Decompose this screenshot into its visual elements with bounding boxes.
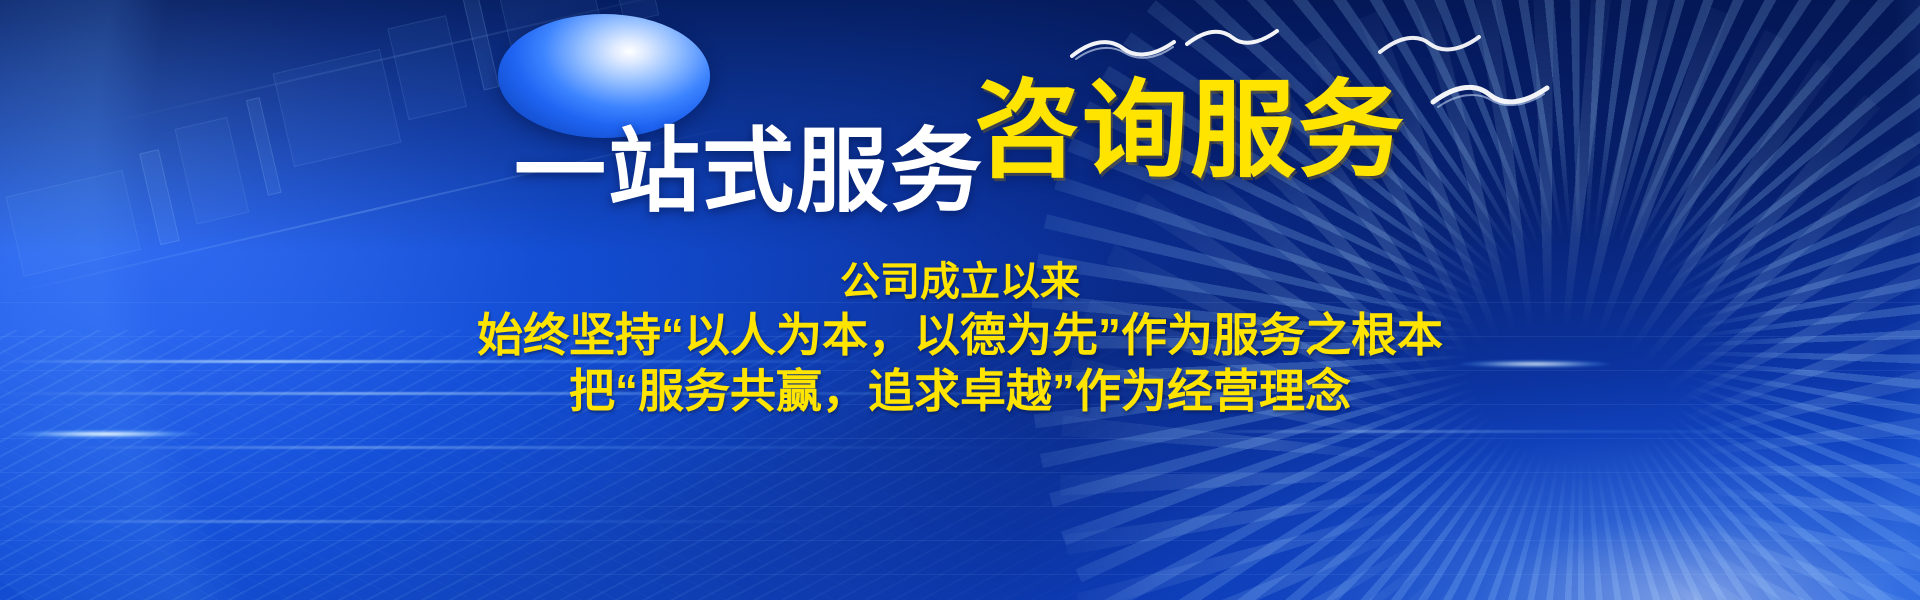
seagull-icon <box>1378 28 1482 62</box>
subtitle-line-1: 公司成立以来 <box>0 258 1920 307</box>
subtitle-line-3: 把“服务共赢，追求卓越”作为经营理念 <box>0 363 1920 419</box>
promo-banner: 一站式服务咨询服务 公司成立以来 始终坚持“以人为本，以德为先”作为服务之根本 … <box>0 0 1920 600</box>
subtitle-block: 公司成立以来 始终坚持“以人为本，以德为先”作为服务之根本 把“服务共赢，追求卓… <box>0 258 1920 419</box>
headline-accent-text: 咨询服务 <box>974 72 1406 190</box>
lens-flare <box>10 430 200 438</box>
subtitle-line-2: 始终坚持“以人为本，以德为先”作为服务之根本 <box>0 307 1920 363</box>
plate <box>463 0 500 91</box>
headline-inner: 一站式服务咨询服务 <box>514 78 1406 184</box>
light-streak <box>0 520 860 523</box>
seagull-icon <box>1185 24 1281 56</box>
headline-primary-text: 一站式服务 <box>514 121 984 223</box>
headline: 一站式服务咨询服务 <box>0 78 1920 184</box>
light-streak <box>60 446 1040 449</box>
seagull-icon <box>1070 34 1180 68</box>
